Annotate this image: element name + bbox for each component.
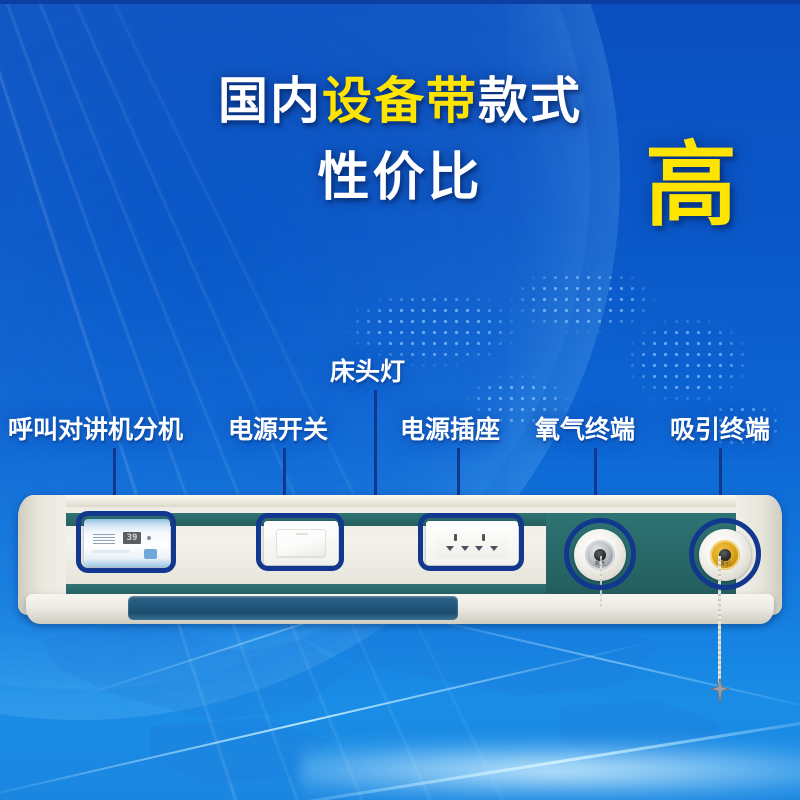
highlight-ring-switch [256, 513, 344, 571]
bed-lamp-strip[interactable] [128, 596, 458, 620]
panel-top-edge [18, 495, 782, 507]
highlight-ring-intercom [76, 511, 176, 573]
highlight-ring-outlet [418, 513, 524, 571]
callout-label-switch: 电源开关 [228, 418, 328, 443]
callout-label-intercom: 呼叫对讲机分机 [8, 418, 183, 443]
promo-banner: 国内设备带款式 性价比 高 呼叫对讲机分机 电源开关 床头灯 电源插座 氧气终端… [0, 0, 800, 800]
headline-emphasis-word: 高 [645, 140, 737, 232]
callout-label-outlet: 电源插座 [400, 418, 500, 443]
bottom-glow [300, 735, 800, 800]
callout-label-bedlamp: 床头灯 [330, 360, 405, 385]
callout-label-suction: 吸引终端 [670, 418, 770, 443]
top-edge-bar [0, 0, 800, 4]
highlight-ring-oxygen [564, 518, 636, 590]
pull-cord-weight-icon [710, 678, 730, 704]
highlight-ring-suction [689, 518, 761, 590]
callout-label-oxygen: 氧气终端 [535, 418, 635, 443]
